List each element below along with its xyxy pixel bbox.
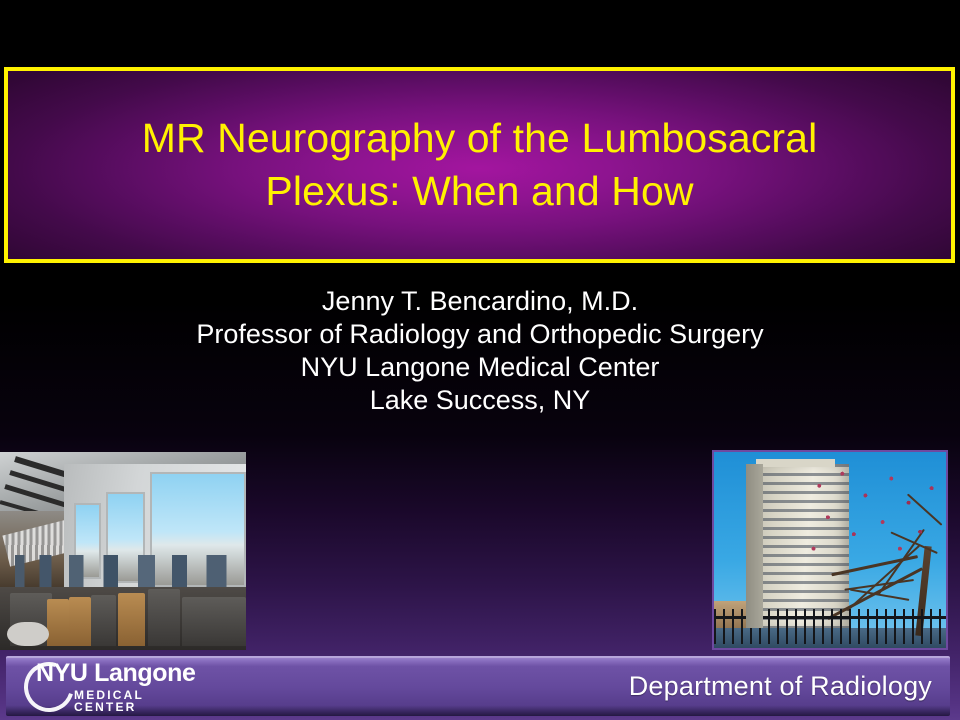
lounge-chair: [182, 597, 246, 647]
title-line-1: MR Neurography of the Lumbosacral: [142, 115, 818, 161]
lounge-chair: [118, 593, 145, 646]
presenter-block: Jenny T. Bencardino, M.D. Professor of R…: [0, 285, 960, 417]
footer-bar: NYU Langone MEDICAL CENTER Department of…: [6, 656, 950, 716]
lounge-chair: [47, 599, 69, 647]
department-label: Department of Radiology: [629, 671, 932, 702]
presenter-institution: NYU Langone Medical Center: [0, 351, 960, 384]
logo-secondary-text: MEDICAL CENTER: [74, 689, 210, 713]
logo-primary-text: NYU Langone: [36, 661, 210, 686]
coffee-table: [7, 622, 49, 646]
presenter-role: Professor of Radiology and Orthopedic Su…: [0, 318, 960, 351]
page-title: MR Neurography of the Lumbosacral Plexus…: [8, 112, 951, 219]
hospital-building-photo: [712, 450, 948, 650]
tower-corner: [746, 464, 762, 629]
lounge-scene: [0, 452, 246, 650]
city-skyline: [0, 555, 246, 587]
nyu-langone-logo: NYU Langone MEDICAL CENTER: [20, 661, 210, 713]
title-box: MR Neurography of the Lumbosacral Plexus…: [4, 67, 955, 263]
hospital-tower-scene: [714, 452, 946, 648]
lounge-chair: [91, 595, 116, 646]
tree-buds: [802, 464, 946, 586]
presenter-name: Jenny T. Bencardino, M.D.: [0, 285, 960, 318]
lounge-chair: [69, 597, 91, 647]
title-slide: MR Neurography of the Lumbosacral Plexus…: [0, 0, 960, 720]
waiting-lounge-photo: [0, 452, 246, 650]
title-line-2: Plexus: When and How: [265, 168, 693, 214]
presenter-location: Lake Success, NY: [0, 384, 960, 417]
lounge-chair: [148, 589, 180, 646]
